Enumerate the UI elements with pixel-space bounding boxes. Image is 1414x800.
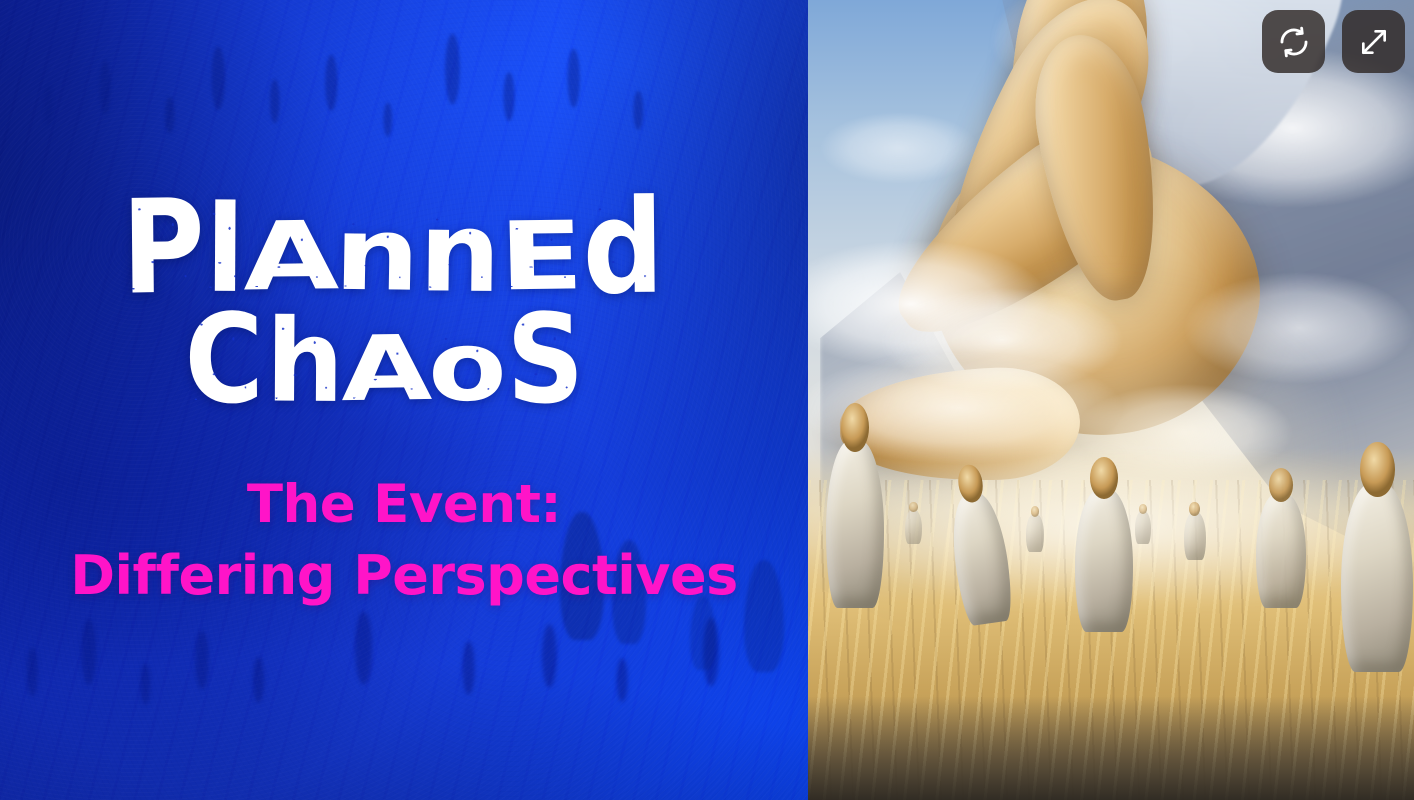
- title-glyph: A: [340, 328, 432, 412]
- title-glyph: E: [498, 212, 584, 300]
- title-glyph: S: [506, 303, 584, 417]
- title-glyph: o: [428, 323, 507, 413]
- artwork-vignette: [808, 0, 1414, 800]
- refresh-icon: [1277, 25, 1311, 59]
- artwork-panel: [808, 0, 1414, 800]
- title-glyph: h: [265, 310, 343, 416]
- page-title: PlAnnEd ChAoS: [144, 196, 664, 416]
- expand-icon: [1358, 26, 1390, 58]
- overlay-controls: [1262, 10, 1405, 73]
- title-glyph: A: [242, 212, 339, 300]
- title-glyph: d: [582, 187, 663, 307]
- title-line-2: ChAoS: [104, 312, 664, 415]
- title-glyph: n: [333, 207, 419, 301]
- expand-button[interactable]: [1342, 10, 1405, 73]
- page-subtitle: The Event: Differing Perspectives: [70, 469, 738, 612]
- title-block: PlAnnEd ChAoS The Event: Differing Persp…: [0, 0, 808, 800]
- media-card: PlAnnEd ChAoS The Event: Differing Persp…: [0, 0, 1414, 800]
- subtitle-line-2: Differing Perspectives: [70, 540, 738, 612]
- title-glyph: C: [184, 303, 263, 417]
- title-glyph: n: [419, 200, 500, 303]
- title-panel: PlAnnEd ChAoS The Event: Differing Persp…: [0, 0, 808, 800]
- refresh-button[interactable]: [1262, 10, 1325, 73]
- subtitle-line-1: The Event:: [70, 469, 738, 540]
